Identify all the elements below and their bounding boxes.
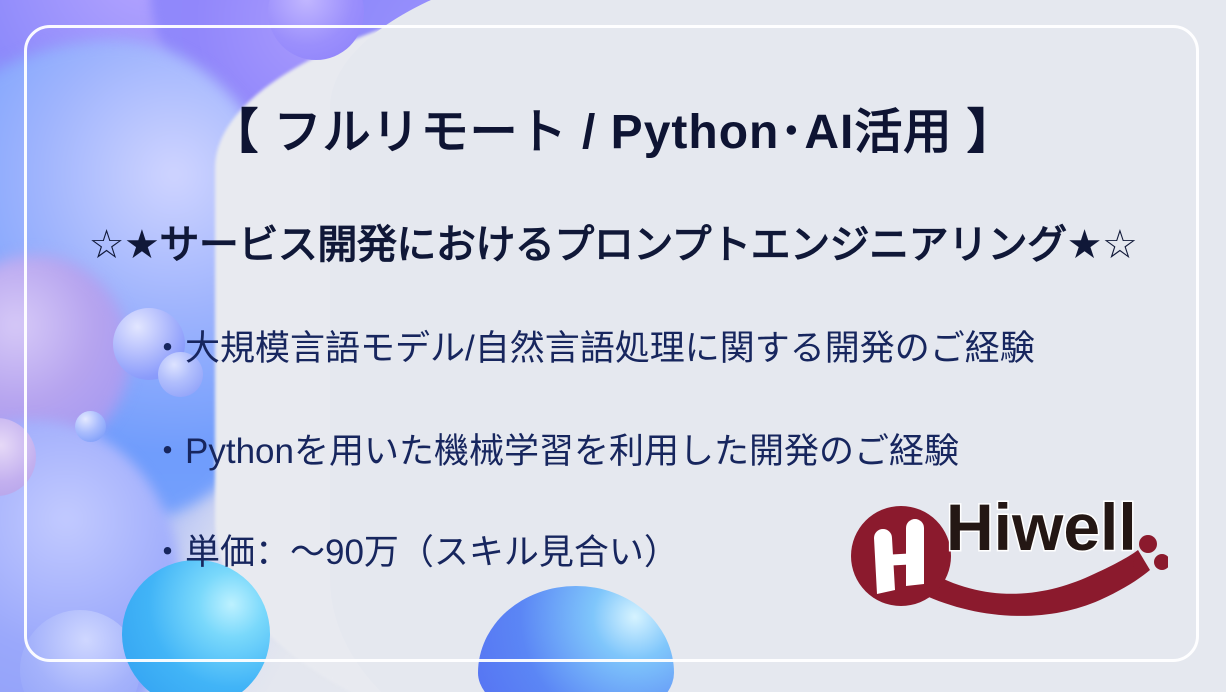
logo-wordmark: Hiwell [946, 490, 1137, 564]
logo-dot-2 [1154, 554, 1168, 570]
hiwell-logo: Hiwell [838, 478, 1168, 618]
bullet-item-requirement-python: ・Pythonを用いた機械学習を利用した開発のご経験 [150, 423, 959, 474]
bullet-item-requirement-llm: ・大規模言語モデル/自然言語処理に関する開発のご経験 [150, 320, 1035, 371]
hiwell-logo-svg: Hiwell [838, 478, 1168, 618]
bullet-item-rate: ・単価：〜90万（スキル見合い） [150, 524, 679, 575]
logo-dot-1 [1139, 535, 1157, 553]
slide-title: 【 フルリモート / Python･AI活用 】 [0, 92, 1226, 162]
slide-subtitle: ☆★サービス開発におけるプロンプトエンジニアリング★☆ [0, 212, 1226, 270]
slide-canvas: 【 フルリモート / Python･AI活用 】 ☆★サービス開発におけるプロン… [0, 0, 1226, 692]
